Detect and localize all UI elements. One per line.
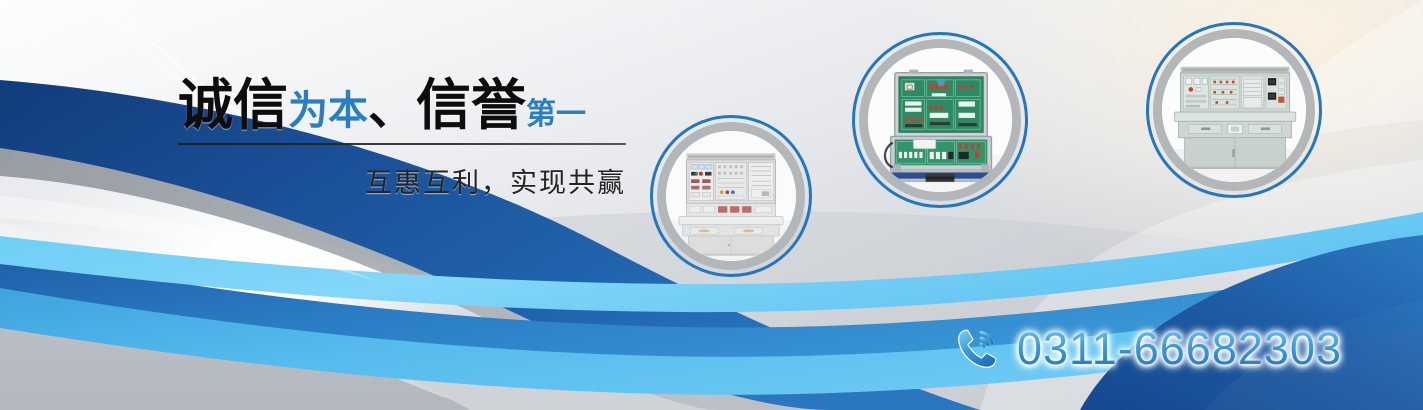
headline-part-1: 诚信 xyxy=(178,74,288,136)
headline-part-3: 信誉 xyxy=(416,74,526,136)
headline: 诚信为本、信誉第一 xyxy=(178,78,626,133)
wide-workbench-photo xyxy=(1162,38,1306,182)
promotional-banner: 诚信为本、信誉第一 互惠互利，实现共赢 xyxy=(0,0,1423,410)
product-circle-3[interactable] xyxy=(1146,22,1322,198)
circle-gray-ring xyxy=(1153,29,1315,191)
circle-gray-ring xyxy=(859,39,1021,201)
headline-part-2: 为本 xyxy=(288,89,368,133)
workbench-photo xyxy=(666,131,796,261)
headline-comma: 、 xyxy=(368,82,416,135)
suitcase-trainer-photo xyxy=(868,48,1012,192)
headline-divider xyxy=(178,143,626,145)
contact-phone-row[interactable]: 0311-66682303 xyxy=(955,325,1342,371)
headline-part-4: 第一 xyxy=(526,98,586,131)
phone-number[interactable]: 0311-66682303 xyxy=(1017,326,1342,371)
headline-block: 诚信为本、信誉第一 互惠互利，实现共赢 xyxy=(178,78,626,200)
product-circle-2[interactable] xyxy=(852,32,1028,208)
headline-subtitle: 互惠互利，实现共赢 xyxy=(178,161,626,200)
phone-ringing-icon xyxy=(955,325,1001,371)
circle-gray-ring xyxy=(657,122,805,270)
product-circle-1[interactable] xyxy=(650,115,812,277)
